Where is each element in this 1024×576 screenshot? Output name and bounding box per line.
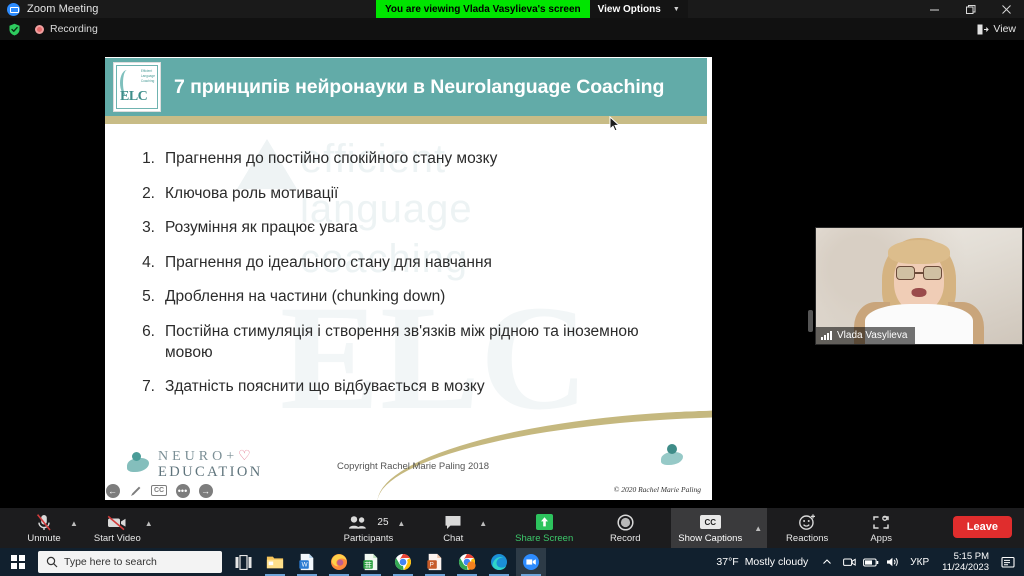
- more-options-icon[interactable]: •••: [175, 483, 190, 498]
- slide-navigation-controls: ← CC ••• →: [105, 483, 213, 498]
- volume-icon[interactable]: [882, 548, 904, 576]
- list-item-number: 2.: [135, 184, 165, 205]
- system-tray: 37°F Mostly cloudy УКР: [708, 548, 1024, 576]
- apps-label: Apps: [870, 533, 892, 544]
- list-item: 1. Прагнення до постійно спокійного стан…: [135, 149, 683, 170]
- zoom-meeting-toolbar: Unmute ▲ Start Video ▲ 25 Participants ▲: [0, 508, 1024, 548]
- clock-time: 5:15 PM: [954, 551, 989, 562]
- participant-name: Vlada Vasylieva: [837, 330, 907, 341]
- pen-icon[interactable]: [128, 483, 143, 498]
- viewing-screen-banner: You are viewing Vlada Vasylieva's screen: [376, 0, 590, 18]
- mouse-cursor: [609, 116, 621, 133]
- zoom-icon[interactable]: [516, 548, 546, 576]
- elc-logo-line-2: Language: [141, 74, 155, 79]
- clock[interactable]: 5:15 PM 11/24/2023: [935, 551, 996, 573]
- share-screen-icon: [535, 513, 554, 532]
- elc-logo-mark: ELC: [120, 89, 147, 105]
- arrow-right-circle-icon[interactable]: →: [198, 483, 213, 498]
- captions-caret-icon[interactable]: ▲: [749, 508, 767, 548]
- camera-icon[interactable]: [838, 548, 860, 576]
- recording-dot-icon: [35, 25, 44, 34]
- reactions-label: Reactions: [786, 533, 828, 544]
- slide-header: Efficient Language Coaching ELC 7 принци…: [105, 58, 707, 116]
- participants-count: 25: [377, 517, 388, 528]
- weather-widget[interactable]: 37°F Mostly cloudy: [708, 556, 816, 568]
- list-item: 7. Здатність пояснити що відбувається в …: [135, 377, 683, 398]
- view-options-button[interactable]: View Options ▼: [590, 0, 688, 18]
- audio-options-caret-icon[interactable]: ▲: [70, 519, 78, 528]
- search-placeholder: Type here to search: [64, 556, 157, 568]
- chevron-down-icon: ▼: [673, 6, 680, 13]
- list-item: 3. Розуміння як працює увага: [135, 218, 683, 239]
- minimize-icon[interactable]: [916, 0, 952, 18]
- list-item: 5. Дроблення на частини (chunking down): [135, 287, 683, 308]
- search-input[interactable]: Type here to search: [38, 551, 222, 573]
- edge-icon[interactable]: [484, 548, 514, 576]
- record-label: Record: [610, 533, 641, 544]
- chevron-up-icon[interactable]: [816, 548, 838, 576]
- elc-logo-icon: Efficient Language Coaching ELC: [113, 62, 161, 112]
- participants-caret-icon[interactable]: ▲: [397, 519, 405, 528]
- tile-resize-handle[interactable]: [808, 310, 813, 332]
- notifications-icon[interactable]: [996, 548, 1020, 576]
- window-title: Zoom Meeting: [27, 3, 99, 15]
- view-label: View: [993, 23, 1016, 35]
- participants-label: Participants: [344, 533, 394, 544]
- firefox-icon[interactable]: [324, 548, 354, 576]
- closed-caption-icon: CC: [700, 513, 721, 532]
- window-controls: [916, 0, 1024, 18]
- unmute-label: Unmute: [27, 533, 60, 544]
- shield-check-icon[interactable]: [8, 23, 21, 36]
- list-item-number: 6.: [135, 322, 165, 363]
- list-item-number: 4.: [135, 253, 165, 274]
- chat-caret-icon[interactable]: ▲: [479, 519, 487, 528]
- list-item-text: Прагнення до постійно спокійного стану м…: [165, 149, 683, 170]
- word-document-icon[interactable]: W: [292, 548, 322, 576]
- chrome-icon[interactable]: [388, 548, 418, 576]
- task-view-icon[interactable]: [228, 548, 258, 576]
- taskbar-app-buttons: W: [260, 548, 546, 576]
- svg-text:W: W: [302, 562, 308, 569]
- record-button[interactable]: Record: [599, 508, 651, 548]
- recording-label: Recording: [50, 23, 98, 35]
- participants-button[interactable]: 25 Participants: [340, 508, 398, 548]
- view-options-label: View Options: [598, 4, 661, 15]
- list-item-text: Постійна стимуляція і створення зв'язків…: [165, 322, 683, 363]
- brand-line-1: NEURO: [158, 449, 226, 464]
- wing-icon: [123, 450, 153, 480]
- list-item-text: Дроблення на частини (chunking down): [165, 287, 683, 308]
- brand-plus: +: [226, 449, 238, 464]
- participants-icon: 25: [348, 513, 388, 532]
- chat-button[interactable]: Chat: [427, 508, 479, 548]
- zoom-title-bar: Zoom Meeting You are viewing Vlada Vasyl…: [0, 0, 1024, 18]
- list-item: 2. Ключова роль мотивації: [135, 184, 683, 205]
- slide-copyright-right: © 2020 Rachel Marie Paling: [614, 485, 701, 494]
- participant-video-tile[interactable]: Vlada Vasylieva: [815, 227, 1023, 345]
- record-icon: [617, 513, 634, 532]
- file-explorer-icon[interactable]: [260, 548, 290, 576]
- signal-bars-icon: [821, 331, 832, 340]
- list-item: 6. Постійна стимуляція і створення зв'яз…: [135, 322, 683, 363]
- calc-spreadsheet-icon[interactable]: [356, 548, 386, 576]
- share-screen-button[interactable]: Share Screen: [511, 508, 577, 548]
- list-item: 4. Прагнення до ідеального стану для нав…: [135, 253, 683, 274]
- microphone-muted-icon: [35, 513, 53, 532]
- chat-icon: [444, 513, 462, 532]
- show-captions-label: Show Captions: [678, 533, 742, 544]
- reactions-icon: [798, 513, 817, 532]
- list-item-number: 3.: [135, 218, 165, 239]
- heart-icon: ♡: [238, 449, 255, 464]
- list-item-text: Розуміння як працює увага: [165, 218, 683, 239]
- list-item-text: Здатність пояснити що відбувається в моз…: [165, 377, 683, 398]
- zoom-logo-icon: [7, 3, 20, 16]
- glasses-icon: [896, 266, 942, 280]
- brand-line-2: EDUCATION: [158, 465, 263, 480]
- closed-caption-icon[interactable]: CC: [151, 485, 167, 496]
- unmute-button[interactable]: Unmute: [18, 508, 70, 548]
- leave-button[interactable]: Leave: [953, 516, 1012, 538]
- clock-date: 11/24/2023: [942, 562, 989, 573]
- powerpoint-icon[interactable]: P: [420, 548, 450, 576]
- apps-button[interactable]: Apps: [855, 508, 907, 548]
- svg-text:P: P: [430, 562, 434, 569]
- list-item-number: 7.: [135, 377, 165, 398]
- start-video-button[interactable]: Start Video: [90, 508, 145, 548]
- arrow-left-circle-icon[interactable]: ←: [105, 483, 120, 498]
- slide-copyright-center: Copyright Rachel Marie Paling 2018: [337, 461, 489, 472]
- windows-taskbar: Type here to search W: [0, 548, 1024, 576]
- language-indicator[interactable]: УКР: [904, 557, 935, 568]
- participant-name-badge: Vlada Vasylieva: [816, 327, 915, 344]
- chat-label: Chat: [443, 533, 463, 544]
- slide-left-margin: [48, 57, 105, 500]
- reactions-button[interactable]: Reactions: [781, 508, 833, 548]
- video-options-caret-icon[interactable]: ▲: [145, 519, 153, 528]
- show-captions-button[interactable]: CC Show Captions: [671, 508, 749, 548]
- slide-principles-list: 1. Прагнення до постійно спокійного стан…: [135, 149, 683, 412]
- neuro-education-logo: NEURO+♡ EDUCATION: [123, 450, 263, 480]
- view-layout-button[interactable]: View: [977, 21, 1016, 37]
- apps-icon: [872, 513, 890, 532]
- restore-icon[interactable]: [952, 0, 988, 18]
- share-screen-label: Share Screen: [515, 533, 573, 544]
- layout-view-icon: [977, 24, 989, 35]
- weather-condition: Mostly cloudy: [745, 556, 809, 568]
- windows-start-icon[interactable]: [0, 548, 36, 576]
- shared-screen-stage: Efficient Language Coaching ELC 7 принци…: [0, 40, 1024, 508]
- emblem-icon: [659, 442, 685, 476]
- list-item-text: Ключова роль мотивації: [165, 184, 683, 205]
- list-item-text: Прагнення до ідеального стану для навчан…: [165, 253, 683, 274]
- recording-status-bar: Recording View: [0, 18, 1024, 40]
- list-item-number: 1.: [135, 149, 165, 170]
- list-item-number: 5.: [135, 287, 165, 308]
- slide-title: 7 принципів нейронауки в Neurolanguage C…: [174, 76, 664, 99]
- weather-temperature: 37°F: [716, 556, 738, 568]
- start-video-label: Start Video: [94, 533, 141, 544]
- search-icon: [46, 556, 58, 568]
- chrome-canary-icon[interactable]: [452, 548, 482, 576]
- sharing-banner-group: You are viewing Vlada Vasylieva's screen…: [376, 0, 688, 18]
- elc-logo-line-3: Coaching: [141, 79, 155, 84]
- battery-icon[interactable]: [860, 548, 882, 576]
- close-icon[interactable]: [988, 0, 1024, 18]
- video-muted-icon: [106, 513, 128, 532]
